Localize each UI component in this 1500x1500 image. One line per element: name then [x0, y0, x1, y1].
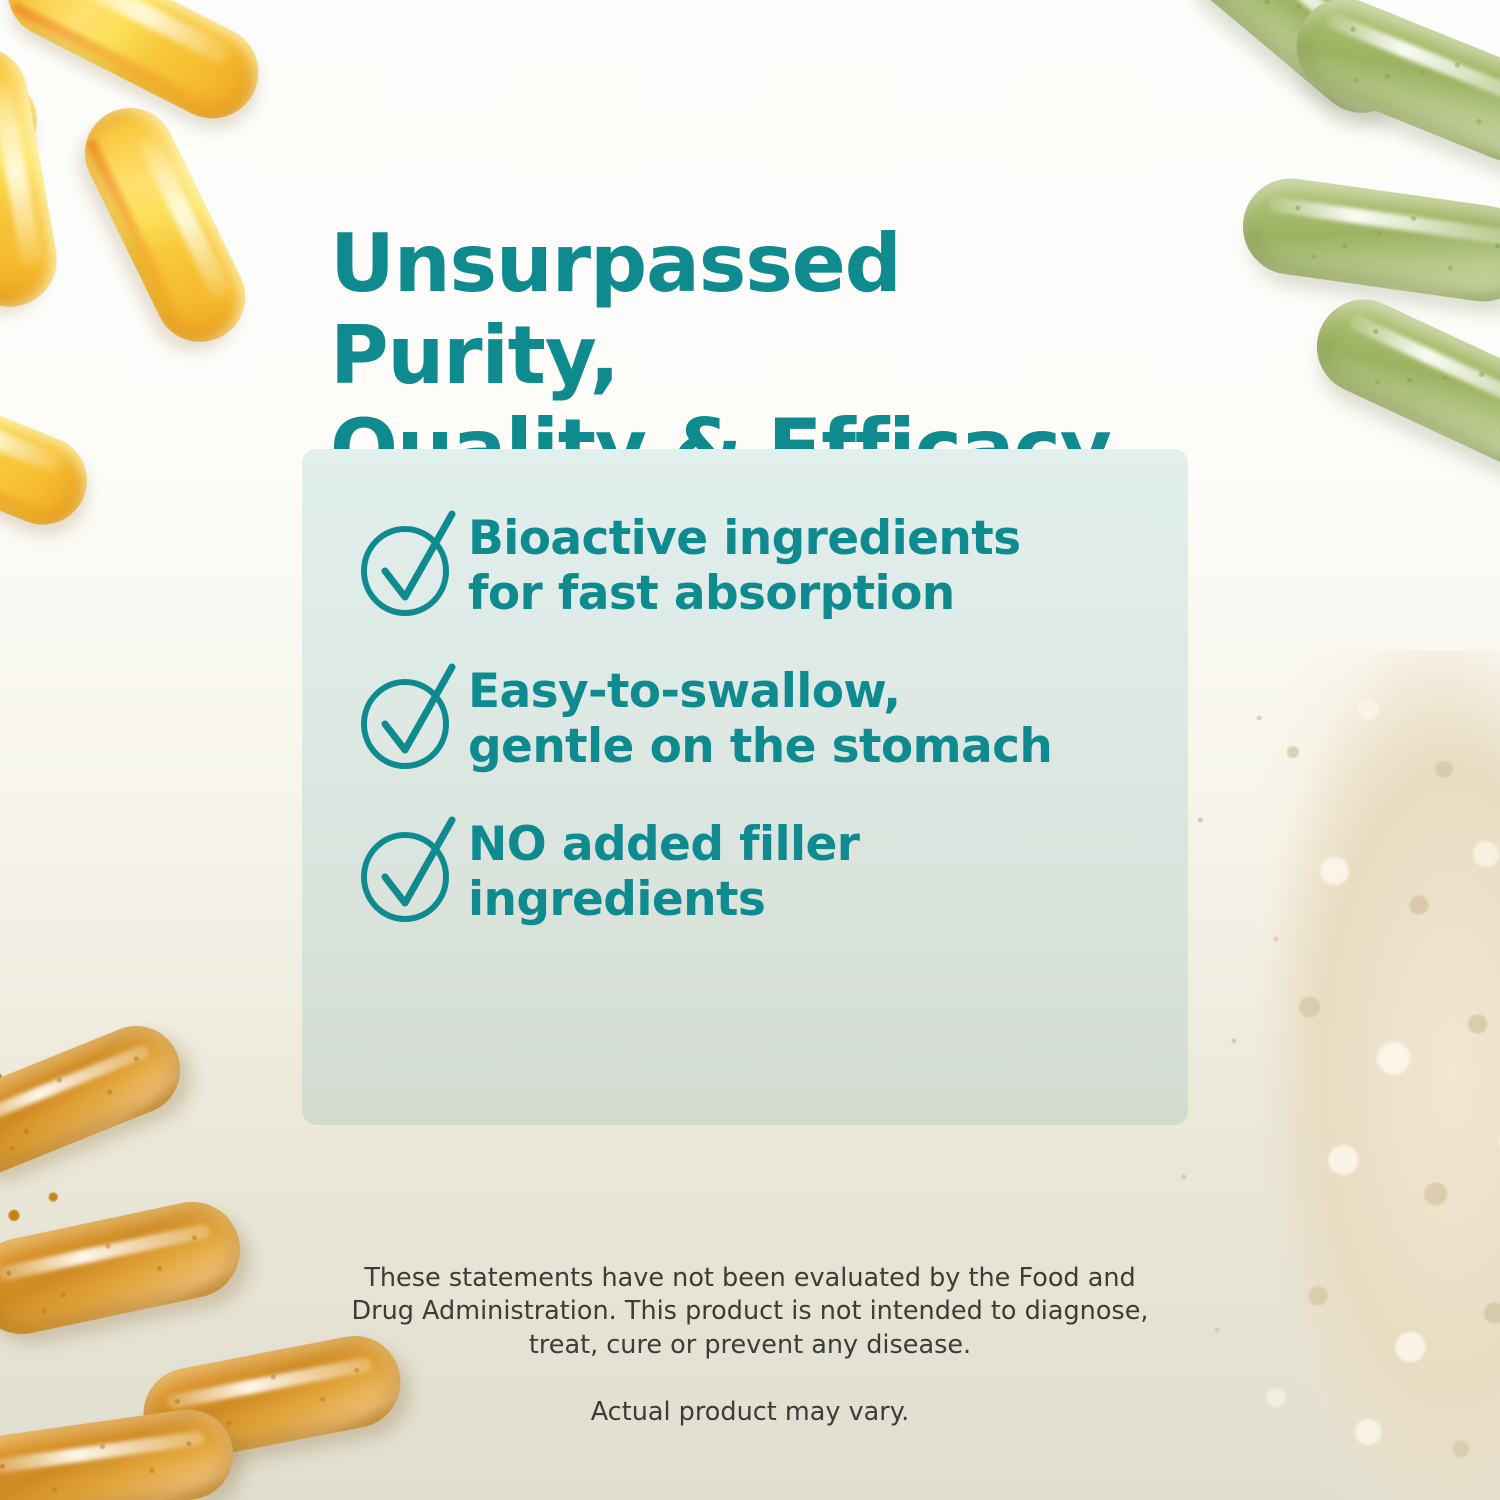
turmeric-capsule: [0, 1404, 239, 1500]
green-capsule: [1301, 284, 1500, 490]
benefit-label: Easy-to-swallow, gentle on the stomach: [468, 660, 1052, 775]
turmeric-capsule: [0, 1013, 193, 1187]
turmeric-capsule: [0, 1193, 249, 1343]
green-capsule-cluster: [1160, 0, 1500, 500]
yellow-softgel-cluster: [0, 0, 280, 600]
check-circle-icon: [356, 662, 468, 772]
protein-powder-pile: [1150, 650, 1500, 1500]
benefits-panel: Bioactive ingredients for fast absorptio…: [302, 449, 1188, 1125]
powder-grain-texture: [1150, 650, 1500, 1500]
green-capsule: [1282, 0, 1500, 176]
turmeric-capsule-cluster: [0, 1030, 350, 1500]
spice-crumbs: [0, 1036, 70, 1266]
benefit-item: Bioactive ingredients for fast absorptio…: [356, 507, 1148, 622]
powder-speck-scatter: [1150, 650, 1500, 1500]
benefit-item: NO added filler ingredients: [356, 813, 1148, 928]
benefit-label: Bioactive ingredients for fast absorptio…: [468, 507, 1020, 622]
benefit-item: Easy-to-swallow, gentle on the stomach: [356, 660, 1148, 775]
green-capsule: [1176, 0, 1427, 132]
softgel-capsule: [70, 93, 260, 357]
check-circle-icon: [356, 815, 468, 925]
softgel-capsule: [0, 40, 64, 314]
product-variance-note: Actual product may vary.: [330, 1396, 1170, 1430]
green-capsule: [1237, 172, 1500, 307]
fda-disclaimer: These statements have not been evaluated…: [330, 1262, 1170, 1364]
benefit-label: NO added filler ingredients: [468, 813, 859, 928]
check-circle-icon: [356, 509, 468, 619]
softgel-capsule: [0, 370, 100, 538]
softgel-capsule: [0, 6, 55, 181]
product-infographic: Unsurpassed Purity, Quality & Efficacy B…: [0, 0, 1500, 1500]
softgel-capsule: [0, 0, 274, 134]
